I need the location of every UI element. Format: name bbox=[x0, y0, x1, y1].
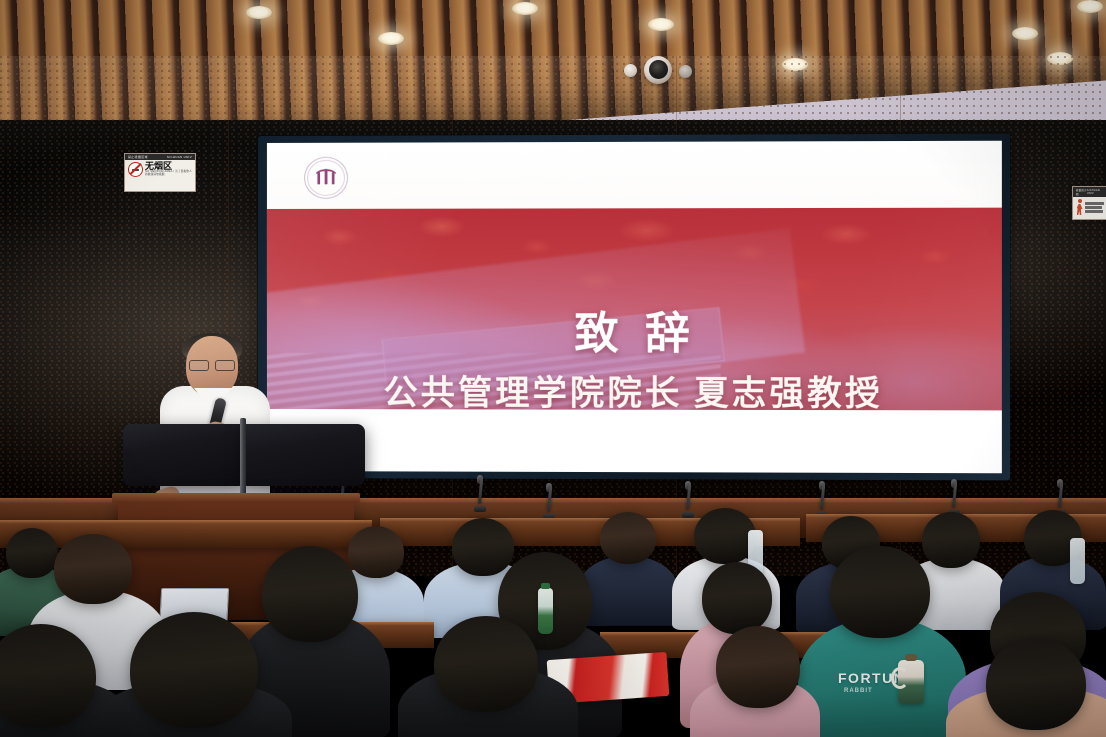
ceiling-spotlight bbox=[246, 6, 272, 19]
slide-footer-band bbox=[267, 409, 1002, 473]
shirt-graphic-line2: RABBIT bbox=[844, 688, 873, 694]
audience-head bbox=[452, 518, 514, 576]
audience-head bbox=[6, 528, 58, 578]
sign-body bbox=[1073, 197, 1106, 217]
sign-header-right: SICHUAN UNIV bbox=[167, 155, 192, 159]
audience-head bbox=[130, 612, 258, 728]
audience-shoulders bbox=[578, 556, 678, 626]
audience-head bbox=[262, 546, 358, 642]
audience-head bbox=[716, 626, 800, 708]
evacuation-line-2 bbox=[1085, 206, 1102, 209]
clear-bottle bbox=[1070, 538, 1085, 584]
audience-head bbox=[922, 512, 980, 568]
camera-lens-icon bbox=[649, 60, 668, 79]
green-tea-bottle bbox=[538, 588, 553, 634]
ceiling-spotlight bbox=[378, 32, 404, 45]
dome-camera-icon bbox=[644, 56, 672, 84]
evacuation-sign: 疏散指示图 SICHUAN UNIV bbox=[1072, 186, 1106, 220]
sign-header-left: 疏散指示图 bbox=[1076, 188, 1087, 196]
presentation-slide: 致辞 公共管理学院院长 夏志强教授 bbox=[267, 141, 1002, 474]
no-smoking-sublabel: NO SMOKING AREA / 为了您和他人的健康请勿吸烟 bbox=[145, 171, 192, 176]
sign-header-right: SICHUAN UNIV bbox=[1087, 189, 1104, 195]
audience-head bbox=[54, 534, 132, 604]
screen-bezel: 致辞 公共管理学院院长 夏志强教授 bbox=[258, 134, 1010, 481]
projection-screen: 致辞 公共管理学院院长 夏志强教授 bbox=[258, 134, 1010, 481]
ceiling-spotlight bbox=[648, 18, 674, 31]
audience-head bbox=[600, 512, 656, 564]
sign-header-left: 禁止吸烟区域 bbox=[128, 155, 148, 159]
ceiling-sensor-icon bbox=[624, 64, 637, 77]
sign-header: 疏散指示图 SICHUAN UNIV bbox=[1073, 187, 1106, 197]
sign-body: 无烟区 NO SMOKING AREA / 为了您和他人的健康请勿吸烟 bbox=[125, 160, 195, 179]
no-smoking-sign: 禁止吸烟区域 SICHUAN UNIV 无烟区 NO SMOKING AREA … bbox=[124, 153, 196, 192]
audience-head bbox=[830, 546, 930, 638]
audience-head bbox=[986, 638, 1086, 730]
slide-header-band bbox=[267, 141, 1002, 209]
audience-area: FORTUNE RABBIT bbox=[0, 470, 1106, 737]
ceiling-spotlight bbox=[1012, 27, 1038, 40]
running-person-icon bbox=[1076, 199, 1083, 215]
evacuation-line-1 bbox=[1085, 202, 1104, 205]
insulated-tumbler bbox=[898, 660, 924, 704]
eyeglasses-icon bbox=[189, 360, 235, 370]
slide-photo-band: 致辞 公共管理学院院长 夏志强教授 bbox=[267, 208, 1002, 411]
audience-head bbox=[694, 508, 756, 564]
audience-head bbox=[702, 562, 772, 634]
evacuation-text-lines bbox=[1085, 202, 1104, 213]
emblem-gate-mark bbox=[315, 165, 337, 187]
ceiling-spotlight bbox=[1077, 0, 1103, 13]
audience-head bbox=[434, 616, 538, 712]
conference-hall-photo: 禁止吸烟区域 SICHUAN UNIV 无烟区 NO SMOKING AREA … bbox=[0, 0, 1106, 737]
sichuan-university-logo-icon bbox=[304, 157, 348, 199]
slide-subtitle: 公共管理学院院长 夏志强教授 bbox=[267, 365, 1002, 410]
ceiling-spotlight bbox=[512, 2, 538, 15]
audience-head bbox=[348, 526, 404, 578]
no-smoking-icon bbox=[128, 162, 143, 177]
slide-title: 致辞 bbox=[267, 297, 1002, 362]
evacuation-line-3 bbox=[1085, 210, 1103, 213]
ceiling-speaker-icon bbox=[679, 65, 692, 78]
